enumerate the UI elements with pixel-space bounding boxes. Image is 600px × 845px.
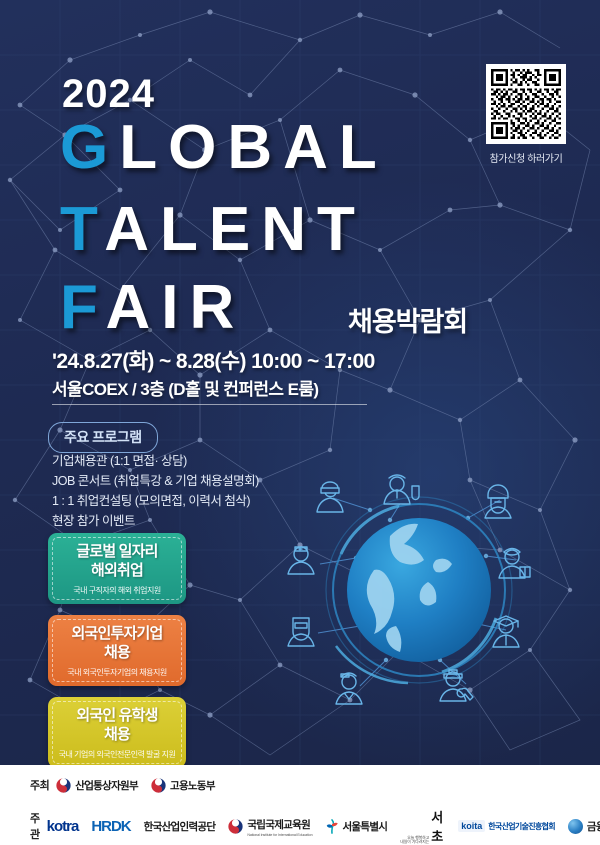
sponsor-footer: 주최 산업통상자원부 고용노동부 주관 [0, 765, 600, 845]
title-rest-global: LOBAL [119, 113, 388, 182]
host-name: 고용노동부 [170, 778, 215, 793]
title-line-fair: FAIR [60, 272, 245, 343]
list-item: 1 : 1 취업컨설팅 (모의면접, 이력서 첨삭) [52, 492, 259, 511]
list-item: 현장 참가 이벤트 [52, 512, 259, 531]
organizer-hrdkorea: 한국산업인력공단 [144, 819, 216, 834]
focus-area-badges: 글로벌 일자리 해외취업 국내 구직자의 해외 취업지원 외국인투자기업 채용 … [48, 533, 186, 765]
organizer-koita: koita 한국산업기술진흥협회 [458, 820, 555, 832]
badge-title-line1: 글로벌 일자리 [76, 543, 157, 560]
badge-title: 외국인투자기업 채용 [54, 624, 180, 662]
host-label: 주최 [30, 777, 49, 793]
title-line-global: GLOBAL [60, 112, 388, 183]
organizer-row: 주관 kotra HRDK 한국산업인력공단 국립국제교육원 National … [30, 807, 600, 845]
section-divider [52, 404, 367, 405]
organizer-subname: National Institute for International Edu… [247, 833, 312, 837]
badge-title-line1: 외국인 유학생 [76, 707, 157, 724]
kotra-wordmark: kotra [47, 818, 79, 835]
avatar-mechanic-icon [440, 670, 473, 701]
blue-sphere-icon [568, 819, 583, 834]
badge-title-line2: 채용 [104, 644, 130, 661]
korean-subtitle: 채용박람회 [348, 300, 467, 339]
badge-overseas-employment: 글로벌 일자리 해외취업 국내 구직자의 해외 취업지원 [48, 533, 186, 604]
organizer-seocho: 오늘 행복하고 내일이 기다려지는 서초 [400, 807, 445, 845]
koita-wordmark: koita [458, 820, 485, 832]
qr-code-matrix [491, 69, 561, 139]
qr-caption: 참가신청 하러가기 [486, 150, 566, 165]
avatar-doctor-icon [384, 475, 419, 504]
taeguk-icon [228, 819, 243, 834]
title-rest-talent: ALENT [104, 195, 366, 264]
poster-root: 참가신청 하러가기 2024 GLOBAL TALENT FAIR 채용박람회 … [0, 0, 600, 845]
badge-subtitle: 국내 구직자의 해외 취업지원 [54, 585, 180, 596]
organizer-kotra: kotra [47, 818, 79, 835]
badge-foreign-student: 외국인 유학생 채용 국내 기업의 외국인전문인력 발굴 지원 [48, 697, 186, 765]
seocho-mark-icon: 오늘 행복하고 내일이 기다려지는 서초 [400, 807, 442, 845]
organizer-label: 주관 [30, 810, 40, 842]
poster-year: 2024 [62, 72, 155, 117]
seoul-mark-icon [325, 819, 339, 834]
badge-subtitle: 국내 기업의 외국인전문인력 발굴 지원 [54, 749, 180, 760]
host-name: 산업통상자원부 [75, 778, 138, 793]
avatar-chef-icon [317, 482, 343, 512]
badge-subtitle: 국내 외국인투자기업의 채용지원 [54, 667, 180, 678]
host-row: 주최 산업통상자원부 고용노동부 [30, 777, 228, 793]
badge-foreign-invested-company: 외국인투자기업 채용 국내 외국인투자기업의 채용지원 [48, 615, 186, 686]
hrdk-wordmark: HRDK [91, 818, 130, 835]
avatar-flight-attendant-icon [336, 673, 362, 704]
globe-network-illustration [278, 448, 600, 748]
program-list: 기업채용관 (1:1 면접· 상담) JOB 콘서트 (취업특강 & 기업 채용… [52, 452, 259, 532]
organizer-name: 한국산업인력공단 [144, 819, 216, 834]
avatar-graduate-icon [493, 616, 519, 647]
event-date: '24.8.27(화) ~ 8.28(수) 10:00 ~ 17:00 [52, 345, 375, 375]
avatar-nurse-icon [288, 547, 314, 574]
organizer-niied: 국립국제교육원 National Institute for Internati… [228, 815, 312, 837]
badge-title-line2: 채용 [104, 726, 130, 743]
list-item: JOB 콘서트 (취업특강 & 기업 채용설명회) [52, 472, 259, 491]
badge-title-line2: 해외취업 [91, 562, 143, 579]
title-rest-fair: AIR [105, 273, 245, 342]
avatar-welder-icon [288, 618, 314, 646]
poster-hero-background: 참가신청 하러가기 2024 GLOBAL TALENT FAIR 채용박람회 … [0, 0, 600, 765]
organizer-fss: 금융감독원 [568, 819, 600, 834]
title-line-talent: TALENT [60, 194, 366, 265]
qr-code-icon[interactable] [486, 64, 566, 144]
organizer-name: 금융감독원 [587, 819, 600, 834]
list-item: 기업채용관 (1:1 면접· 상담) [52, 452, 259, 471]
badge-title: 글로벌 일자리 해외취업 [54, 542, 180, 580]
qr-application-block[interactable]: 참가신청 하러가기 [486, 64, 566, 165]
host-moel: 고용노동부 [151, 778, 215, 793]
badge-title-line1: 외국인투자기업 [71, 625, 162, 642]
avatar-firefighter-icon [485, 485, 511, 518]
organizer-name: 국립국제교육원 [247, 819, 310, 831]
event-venue: 서울COEX / 3층 (D홀 및 컨퍼런스 E룸) [52, 375, 318, 400]
seocho-tagline: 오늘 행복하고 내일이 기다려지는 [400, 836, 429, 845]
seocho-tagline-line2: 내일이 기다려지는 [400, 840, 429, 844]
title-initial-f: F [60, 273, 105, 342]
organizer-name: 한국산업기술진흥협회 [488, 821, 555, 832]
program-heading: 주요 프로그램 [48, 422, 158, 453]
organizer-hrdk: HRDK [91, 818, 130, 835]
taeguk-icon [151, 778, 166, 793]
badge-title: 외국인 유학생 채용 [54, 706, 180, 744]
taeguk-icon [56, 778, 71, 793]
title-initial-t: T [60, 195, 104, 264]
organizer-seoul: 서울특별시 [325, 819, 387, 834]
title-initial-g: G [60, 113, 119, 182]
organizer-name: 서초 [431, 807, 442, 845]
organizer-name: 서울특별시 [342, 819, 387, 834]
host-motie: 산업통상자원부 [56, 778, 138, 793]
